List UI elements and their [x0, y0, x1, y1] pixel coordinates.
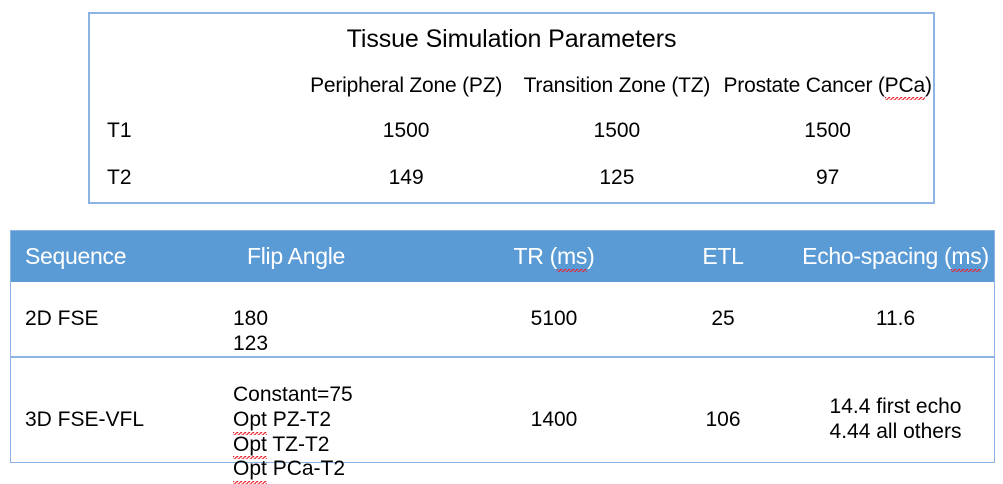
- echo-suffix: ): [981, 243, 988, 269]
- tissue-simulation-parameters-table: Tissue Simulation Parameters Peripheral …: [88, 12, 935, 204]
- flip-angle-2d-fse: 180123: [233, 282, 459, 357]
- flip-angle-line-opt-tz: Opt TZ-T2: [233, 433, 459, 458]
- sequence-header-tr-text: TR (ms): [514, 243, 595, 269]
- flip-angle-line-constant: Constant=75: [233, 383, 459, 408]
- flip-angle-3d-fse-vfl-lines: Constant=75Opt PZ-T2Opt TZ-T2Opt PCa-T2: [233, 358, 459, 482]
- sequence-header-tr: TR (ms): [459, 231, 649, 282]
- tissue-table-grid: Tissue Simulation Parameters Peripheral …: [90, 14, 933, 202]
- spellcheck-underline-opt-tz: Opt: [233, 433, 267, 458]
- tissue-table-title: Tissue Simulation Parameters: [90, 14, 933, 65]
- tr-value-2d-fse: 5100: [459, 282, 649, 357]
- tissue-header-peripheral-zone: Peripheral Zone (PZ): [301, 65, 512, 107]
- tissue-header-prostate-cancer-text: Prostate Cancer (PCa): [724, 74, 932, 97]
- table-row: 3D FSE-VFL Constant=75Opt PZ-T2Opt TZ-T2…: [11, 357, 994, 482]
- tissue-t2-tz-value: 125: [512, 154, 723, 202]
- echo-spacing-line-first: 14.4 first echo: [797, 395, 994, 420]
- tr-suffix: ): [587, 243, 594, 269]
- sequence-header-echo-spacing: Echo-spacing (ms): [797, 231, 994, 282]
- tissue-row-label-t1: T1: [90, 107, 301, 155]
- tissue-t1-pca-value: 1500: [722, 107, 933, 155]
- table-row: 2D FSE 180123 5100 25 11.6: [11, 282, 994, 357]
- spellcheck-underline-pca: PCa: [885, 74, 925, 98]
- tissue-title-row: Tissue Simulation Parameters: [90, 14, 933, 65]
- tissue-t1-pz-value: 1500: [301, 107, 512, 155]
- flip-angle-2d-fse-lines: 180123: [233, 282, 459, 356]
- flip-angle-line-opt-pz: Opt PZ-T2: [233, 408, 459, 433]
- spellcheck-underline-opt-pca: Opt: [233, 457, 267, 482]
- tissue-t2-pz-value: 149: [301, 154, 512, 202]
- sequence-parameters-table: Sequence Flip Angle TR (ms) ETL Echo-spa…: [10, 230, 995, 463]
- spellcheck-underline-opt-pz: Opt: [233, 408, 267, 433]
- tr-value-3d-fse-vfl: 1400: [459, 357, 649, 482]
- tissue-header-corner-empty: [90, 65, 301, 107]
- sequence-header-sequence: Sequence: [11, 231, 233, 282]
- tissue-header-row: Peripheral Zone (PZ) Transition Zone (TZ…: [90, 65, 933, 107]
- sequence-header-flip-angle: Flip Angle: [233, 231, 459, 282]
- flip-angle-line-180: 180: [233, 307, 459, 332]
- tissue-row-label-t2: T2: [90, 154, 301, 202]
- table-row: T1 1500 1500 1500: [90, 107, 933, 155]
- sequence-name-3d-fse-vfl: 3D FSE-VFL: [11, 357, 233, 482]
- table-row: T2 149 125 97: [90, 154, 933, 202]
- sequence-name-2d-fse: 2D FSE: [11, 282, 233, 357]
- sequence-header-row: Sequence Flip Angle TR (ms) ETL Echo-spa…: [11, 231, 994, 282]
- tissue-t2-pca-value: 97: [722, 154, 933, 202]
- tissue-t1-tz-value: 1500: [512, 107, 723, 155]
- echo-spacing-value-3d-fse-vfl: 14.4 first echo 4.44 all others: [797, 357, 994, 482]
- sequence-header-etl: ETL: [649, 231, 797, 282]
- flip-angle-line-opt-pca: Opt PCa-T2: [233, 457, 459, 482]
- echo-prefix: Echo-spacing (: [802, 243, 951, 269]
- tissue-header-prostate-cancer: Prostate Cancer (PCa): [722, 65, 933, 107]
- etl-value-3d-fse-vfl: 106: [649, 357, 797, 482]
- sequence-table-grid: Sequence Flip Angle TR (ms) ETL Echo-spa…: [11, 231, 994, 482]
- etl-value-2d-fse: 25: [649, 282, 797, 357]
- flip-angle-3d-fse-vfl: Constant=75Opt PZ-T2Opt TZ-T2Opt PCa-T2: [233, 357, 459, 482]
- echo-spacing-line-others: 4.44 all others: [797, 420, 994, 445]
- sequence-header-echo-spacing-text: Echo-spacing (ms): [802, 243, 989, 269]
- echo-spacing-value-2d-fse: 11.6: [797, 282, 994, 357]
- flip-angle-line-123: 123: [233, 332, 459, 357]
- tr-prefix: TR (: [514, 243, 558, 269]
- spellcheck-underline-ms-tr: ms: [557, 243, 587, 270]
- tissue-header-transition-zone: Transition Zone (TZ): [512, 65, 723, 107]
- spellcheck-underline-ms-echo: ms: [951, 243, 981, 270]
